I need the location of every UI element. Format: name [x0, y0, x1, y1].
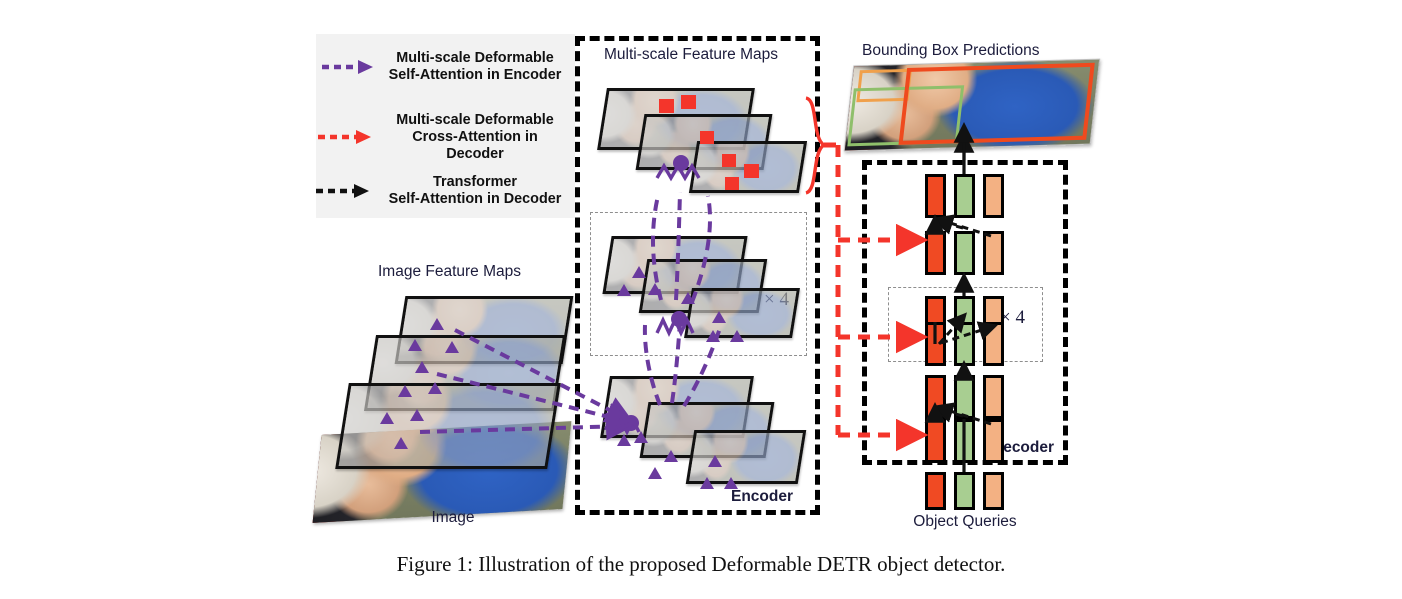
sampling-triangle — [445, 341, 459, 353]
query-block-peach — [983, 419, 1004, 463]
bounding-box-prediction-image — [844, 59, 1101, 152]
prediction-square — [700, 131, 714, 144]
query-block-red — [925, 231, 946, 275]
query-block-green — [954, 419, 975, 463]
sampling-triangle — [394, 437, 408, 449]
query-block-red — [925, 419, 946, 463]
figure-caption: Figure 1: Illustration of the proposed D… — [0, 552, 1402, 577]
object-queries-label: Object Queries — [890, 512, 1040, 531]
legend-label-decoder-cross-attention: Multi-scale Deformable Cross-Attention i… — [382, 112, 568, 163]
legend: Multi-scale Deformable Self-Attention in… — [316, 34, 575, 218]
legend-label-encoder-self-attention: Multi-scale Deformable Self-Attention in… — [382, 50, 568, 84]
sampling-triangle — [712, 311, 726, 323]
legend-line-1: Multi-scale Deformable — [382, 112, 568, 129]
prediction-square — [725, 177, 739, 190]
image-label: Image — [408, 508, 498, 527]
sampling-triangle — [617, 284, 631, 296]
query-block-peach — [983, 231, 1004, 275]
sampling-triangle — [617, 434, 631, 446]
sampling-triangle — [415, 361, 429, 373]
legend-line-2: Self-Attention in Encoder — [382, 67, 568, 84]
legend-line-2: Self-Attention in Decoder — [382, 191, 568, 208]
encoder-label: Encoder — [728, 487, 796, 506]
prediction-square — [722, 154, 736, 167]
legend-line-1: Transformer — [382, 174, 568, 191]
multiscale-feature-maps-title: Multi-scale Feature Maps — [600, 45, 782, 64]
sampling-triangle — [380, 412, 394, 424]
encoder-bottom-map-3 — [686, 430, 807, 484]
sampling-triangle — [724, 477, 738, 489]
query-block-red — [925, 375, 946, 419]
legend-item-decoder-cross-attention: Multi-scale Deformable Cross-Attention i… — [316, 112, 575, 163]
object-query-block-green — [954, 472, 975, 510]
legend-item-encoder-self-attention: Multi-scale Deformable Self-Attention in… — [316, 50, 575, 84]
prediction-square — [681, 95, 696, 109]
query-block-peach — [983, 174, 1004, 218]
bounding-box-predictions-title: Bounding Box Predictions — [862, 41, 1040, 60]
query-block-green — [954, 231, 975, 275]
prediction-square — [744, 164, 759, 178]
reference-point-dot — [671, 311, 687, 327]
image-feature-maps-title: Image Feature Maps — [378, 262, 521, 281]
query-block-peach — [983, 375, 1004, 419]
sampling-triangle — [681, 292, 695, 304]
query-block-green — [954, 375, 975, 419]
sampling-triangle — [700, 477, 714, 489]
bbox-red — [898, 63, 1094, 145]
sampling-triangle — [430, 318, 444, 330]
black-dashed-arrow-icon — [316, 181, 382, 201]
sampling-triangle — [398, 385, 412, 397]
sampling-triangle — [648, 283, 662, 295]
sampling-triangle — [730, 330, 744, 342]
sampling-triangle — [632, 266, 646, 278]
prediction-square — [659, 99, 674, 113]
red-dashed-arrow-icon — [316, 127, 382, 147]
sampling-triangle — [648, 467, 662, 479]
query-block-red — [925, 174, 946, 218]
query-block-green — [954, 322, 975, 366]
sampling-triangle — [408, 339, 422, 351]
legend-line-2: Cross-Attention in Decoder — [382, 129, 568, 163]
image-feature-map-level-1 — [335, 383, 561, 469]
object-query-block-peach — [983, 472, 1004, 510]
reference-point-dot — [623, 415, 639, 431]
object-query-block-red — [925, 472, 946, 510]
sampling-triangle — [410, 409, 424, 421]
legend-item-decoder-self-attention: Transformer Self-Attention in Decoder — [316, 174, 575, 208]
query-block-red — [925, 322, 946, 366]
sampling-triangle — [706, 330, 720, 342]
figure-root: Multi-scale Deformable Self-Attention in… — [0, 0, 1402, 599]
sampling-triangle — [428, 382, 442, 394]
legend-label-decoder-self-attention: Transformer Self-Attention in Decoder — [382, 174, 568, 208]
sampling-triangle — [634, 431, 648, 443]
sampling-triangle — [664, 450, 678, 462]
purple-dashed-arrow-icon — [316, 57, 382, 77]
legend-line-1: Multi-scale Deformable — [382, 50, 568, 67]
query-block-green — [954, 174, 975, 218]
sampling-triangle — [708, 455, 722, 467]
reference-point-dot — [673, 155, 689, 171]
query-block-peach — [983, 322, 1004, 366]
